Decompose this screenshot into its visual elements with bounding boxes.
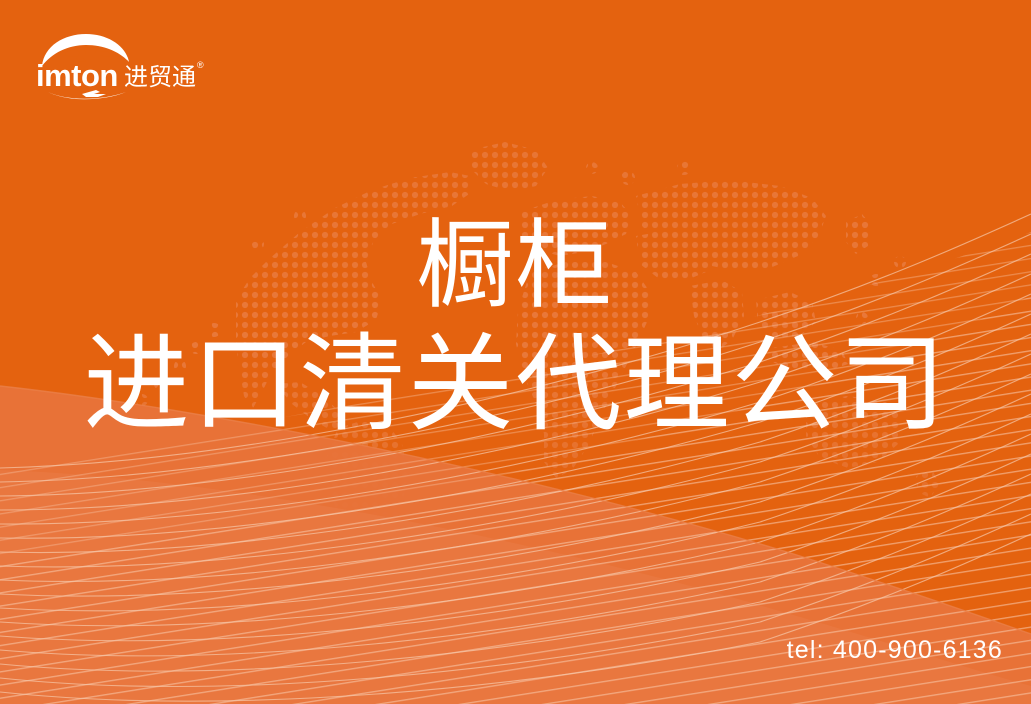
headline-block: 橱柜 进口清关代理公司: [0, 0, 1031, 704]
headline-line-2: 进口清关代理公司: [84, 332, 948, 438]
telephone-text: tel: 400-900-6136: [787, 636, 1003, 665]
headline-line-1: 橱柜: [417, 217, 615, 314]
promo-poster: imton 进贸通 ® 橱柜 进口清关代理公司 tel: 400-900-613…: [0, 0, 1031, 704]
